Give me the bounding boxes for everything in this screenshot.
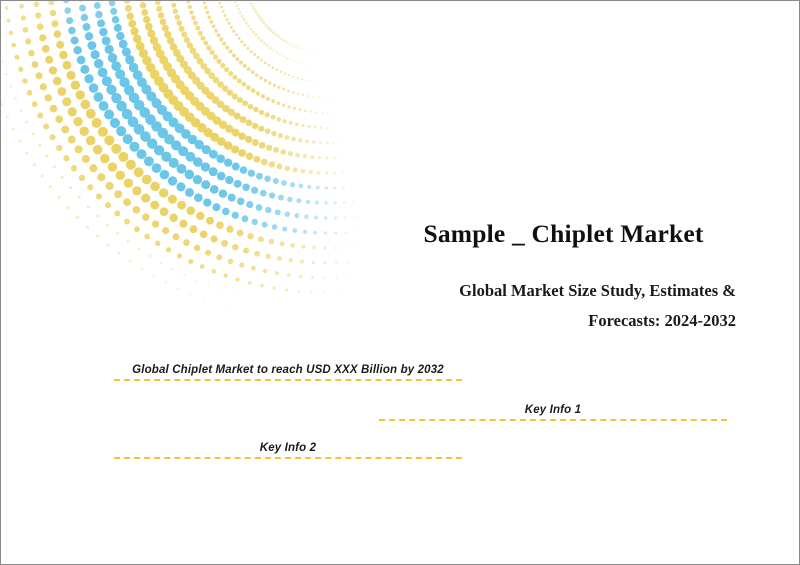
page-title: Sample _ Chiplet Market: [391, 219, 736, 250]
subtitle-line-1: Global Market Size Study, Estimates &: [391, 276, 736, 307]
title-block: Sample _ Chiplet Market Global Market Si…: [391, 219, 736, 337]
key-info-1: Key Info 1: [379, 404, 727, 421]
halftone-swoosh-decoration: [1, 1, 381, 331]
key-info-headline: Global Chiplet Market to reach USD XXX B…: [114, 364, 462, 381]
key-info-2: Key Info 2: [114, 442, 462, 459]
report-cover-page: Sample _ Chiplet Market Global Market Si…: [0, 0, 800, 565]
subtitle-line-2: Forecasts: 2024-2032: [391, 306, 736, 337]
